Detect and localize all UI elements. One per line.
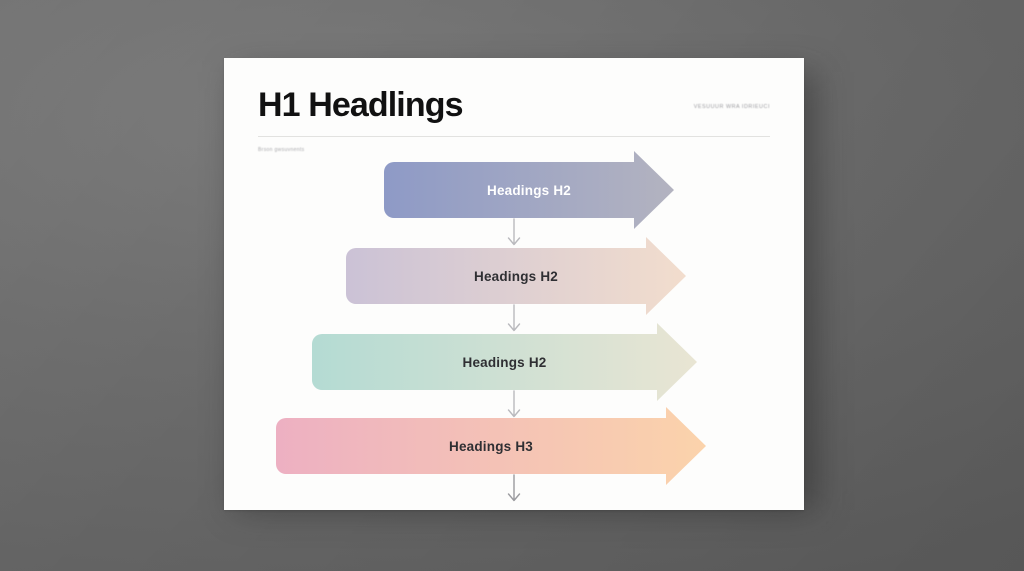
arrow-shape-2 xyxy=(346,248,686,304)
flow-arrow-4[interactable]: Headings H3 xyxy=(276,418,706,474)
arrow-shape-3 xyxy=(312,334,697,390)
flow-arrow-3[interactable]: Headings H2 xyxy=(312,334,697,390)
connector-down-arrow-4 xyxy=(505,474,523,504)
slide-card: H1 Headlings Vesuuur wra idrieuci Brson … xyxy=(224,58,804,510)
arrow-shape-4 xyxy=(276,418,706,474)
arrow-flow-diagram: Headings H2Headings H2Headings H2Heading… xyxy=(224,154,804,510)
page-title: H1 Headlings xyxy=(258,88,463,124)
connector-down-arrow-3 xyxy=(505,390,523,420)
flow-arrow-2[interactable]: Headings H2 xyxy=(346,248,686,304)
header-divider xyxy=(258,136,770,137)
page-subtitle: Brson gwsuvnents xyxy=(258,147,770,153)
card-content: H1 Headlings Vesuuur wra idrieuci Brson … xyxy=(224,58,804,510)
connector-down-arrow-1 xyxy=(505,218,523,248)
arrow-shape-1 xyxy=(384,162,674,218)
flow-arrow-1[interactable]: Headings H2 xyxy=(384,162,674,218)
card-header: H1 Headlings Vesuuur wra idrieuci xyxy=(258,88,770,124)
connector-down-arrow-2 xyxy=(505,304,523,334)
header-meta-text: Vesuuur wra idrieuci xyxy=(694,104,770,110)
